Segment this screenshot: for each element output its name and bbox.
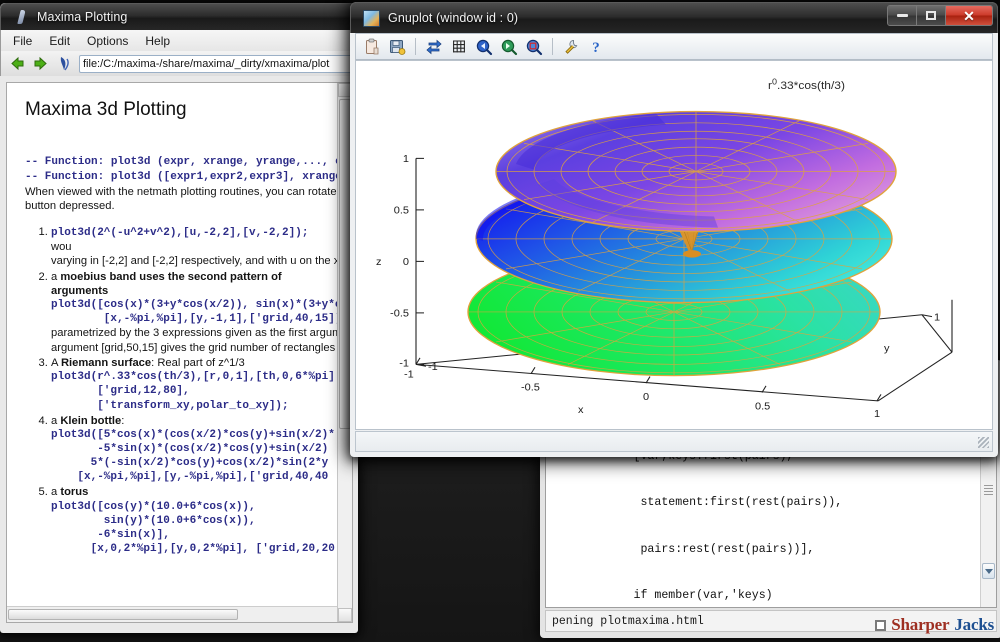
item3-suffix: : Real part of z^1/3 xyxy=(151,357,245,369)
z-axis-label: z xyxy=(376,256,382,268)
list-item: A Riemann surface: Real part of z^1/3 pl… xyxy=(51,356,329,413)
x-tick-0: 0 xyxy=(643,391,649,403)
plot-title-rest: .33*cos(th/3) xyxy=(777,79,845,92)
copy-to-clipboard-button[interactable] xyxy=(361,36,383,57)
scroll-down-button[interactable] xyxy=(982,563,995,579)
item2-prefix: a xyxy=(51,271,60,283)
toolbar-separator xyxy=(552,38,553,55)
z-tick--0.5: -0.5 xyxy=(390,308,409,320)
z-tick--1: -1 xyxy=(399,358,409,370)
item2-desc-1: parametrized by the 3 expressions given … xyxy=(51,326,329,340)
gnuplot-window-title: Gnuplot (window id : 0) xyxy=(388,11,518,25)
minimize-button[interactable] xyxy=(888,6,917,25)
item5-prefix: a xyxy=(51,486,60,498)
gnuplot-status-bar xyxy=(355,431,993,452)
item3-prefix: A xyxy=(51,357,61,369)
replot-button[interactable] xyxy=(423,36,445,57)
z-tick-0: 0 xyxy=(403,256,409,268)
gnuplot-toolbar[interactable]: ? xyxy=(355,33,993,60)
item4-code-4: [x,-%pi,%pi],[y,-%pi,%pi],['grid,40,40 xyxy=(51,470,329,484)
gnuplot-window[interactable]: Gnuplot (window id : 0) ✕ xyxy=(350,2,998,457)
navigation-bar[interactable]: file:/C:/maxima-/share/maxima/_dirty/xma… xyxy=(0,51,358,76)
x-tick-0.5: 0.5 xyxy=(755,401,770,413)
list-item: a moebius band uses the second pattern o… xyxy=(51,270,329,355)
upper-sheet xyxy=(496,112,896,232)
document-body: -- Function: plot3d (expr, xrange, yrang… xyxy=(25,155,329,556)
console-line: if member(var,'keys) xyxy=(550,588,996,604)
item2-desc-2: argument [grid,50,15] gives the grid num… xyxy=(51,341,329,355)
watermark-part1: Sharper xyxy=(891,615,949,635)
console-line: statement:first(rest(pairs)), xyxy=(550,495,996,511)
surface-plot: r0.33*cos(th/3) 1 0.5 0 -0.5 -1 z xyxy=(356,61,992,429)
list-item: a Klein bottle: plot3d([5*cos(x)*(cos(x/… xyxy=(51,414,329,485)
watermark-part2: Jacks xyxy=(954,615,994,635)
menu-edit[interactable]: Edit xyxy=(47,33,72,49)
z-tick-0.5: 0.5 xyxy=(394,205,409,217)
item2-bold: moebius band uses the second pattern of … xyxy=(51,271,282,297)
maxima-brand-icon xyxy=(57,56,71,71)
screen-root: else caseq( [var,keys:first(pairs), stat… xyxy=(0,0,1000,642)
menu-bar[interactable]: File Edit Options Help xyxy=(0,30,358,51)
item3-code-1: plot3d(r^.33*cos(th/3),[r,0,1],[th,0,6*%… xyxy=(51,370,329,384)
document-hscrollbar[interactable] xyxy=(7,606,337,622)
zoom-previous-button[interactable] xyxy=(473,36,495,57)
watermark: Sharper Jacks xyxy=(875,615,994,635)
scrollbar-grip-icon xyxy=(984,485,993,497)
item3-code-3: ['transform_xy,polar_to_xy]); xyxy=(51,399,329,413)
grid-button[interactable] xyxy=(448,36,470,57)
hscroll-thumb[interactable] xyxy=(8,609,238,620)
examples-list: plot3d(2^(-u^2+v^2),[u,-2,2],[v,-2,2]); … xyxy=(25,225,329,556)
back-arrow-icon[interactable] xyxy=(9,56,26,71)
document-page: Maxima 3d Plotting -- Function: plot3d (… xyxy=(7,83,337,622)
x-tick--0.5: -0.5 xyxy=(521,382,540,394)
menu-options[interactable]: Options xyxy=(85,33,130,49)
scroll-down-button[interactable] xyxy=(338,608,352,622)
settings-button[interactable] xyxy=(560,36,582,57)
item4-prefix: a xyxy=(51,415,60,427)
document-viewport[interactable]: Maxima 3d Plotting -- Function: plot3d (… xyxy=(6,82,353,623)
page-title: Maxima 3d Plotting xyxy=(25,99,329,121)
item3-bold: Riemann surface xyxy=(61,357,151,369)
window-controls[interactable]: ✕ xyxy=(887,5,993,26)
item5-code-1: plot3d([cos(y)*(10.0+6*cos(x)), xyxy=(51,500,329,514)
plot-title: r0.33*cos(th/3) xyxy=(768,77,845,92)
item5-code-4: [x,0,2*%pi],[y,0,2*%pi], ['grid,20,20 xyxy=(51,542,329,556)
list-item: plot3d(2^(-u^2+v^2),[u,-2,2],[v,-2,2]); … xyxy=(51,225,329,269)
save-button[interactable] xyxy=(386,36,408,57)
item5-code-3: -6*sin(x)], xyxy=(51,528,329,542)
zoom-next-button[interactable] xyxy=(498,36,520,57)
maximize-button[interactable] xyxy=(917,6,946,25)
close-icon: ✕ xyxy=(963,9,975,23)
svg-text:?: ? xyxy=(592,40,600,56)
chevron-down-icon xyxy=(985,569,993,574)
menu-help[interactable]: Help xyxy=(143,33,172,49)
item4-suffix: : xyxy=(121,415,124,427)
x-tick--1: -1 xyxy=(404,369,414,381)
minimize-icon xyxy=(897,14,908,17)
maxima-titlebar[interactable]: Maxima Plotting xyxy=(0,3,358,30)
console-line: pairs:rest(rest(pairs))], xyxy=(550,542,996,558)
maxima-plotting-window[interactable]: Maxima Plotting File Edit Options Help xyxy=(0,3,358,633)
item3-code-2: ['grid,12,80], xyxy=(51,384,329,398)
x-axis-label: x xyxy=(578,404,584,416)
close-button[interactable]: ✕ xyxy=(946,6,992,25)
item5-code-2: sin(y)*(10.0+6*cos(x)), xyxy=(51,514,329,528)
y-tick--1: -1 xyxy=(428,361,438,373)
maxima-window-title: Maxima Plotting xyxy=(37,10,127,24)
intro-line-1: When viewed with the netmath plotting ro… xyxy=(25,185,329,199)
maximize-icon xyxy=(926,11,936,20)
resize-grip-icon[interactable] xyxy=(978,437,989,448)
gnuplot-titlebar[interactable]: Gnuplot (window id : 0) ✕ xyxy=(350,2,998,33)
item1-trailing: wou xyxy=(51,241,72,253)
url-input[interactable]: file:/C:/maxima-/share/maxima/_dirty/xma… xyxy=(79,55,353,73)
gnuplot-icon xyxy=(363,10,380,27)
autoscale-button[interactable] xyxy=(523,36,545,57)
help-button[interactable]: ? xyxy=(585,36,607,57)
item2-code-1: plot3d([cos(x)*(3+y*cos(x/2)), sin(x)*(3… xyxy=(51,298,329,312)
intro-line-2: button depressed. xyxy=(25,199,329,213)
forward-arrow-icon[interactable] xyxy=(32,56,49,71)
z-tick-1: 1 xyxy=(403,153,409,165)
item4-bold: Klein bottle xyxy=(60,415,121,427)
menu-file[interactable]: File xyxy=(11,33,34,49)
item4-code-1: plot3d([5*cos(x)*(cos(x/2)*cos(y)+sin(x/… xyxy=(51,428,329,442)
y-tick-1: 1 xyxy=(934,312,940,324)
list-item: a torus plot3d([cos(y)*(10.0+6*cos(x)), … xyxy=(51,485,329,556)
item4-code-2: -5*sin(x)*(cos(x/2)*cos(y)+sin(x/2) xyxy=(51,442,329,456)
function-signature-2: -- Function: plot3d ([expr1,expr2,expr3]… xyxy=(25,170,329,184)
item1-code: plot3d(2^(-u^2+v^2),[u,-2,2],[v,-2,2]); xyxy=(51,227,308,239)
function-signature-1: -- Function: plot3d (expr, xrange, yrang… xyxy=(25,155,329,169)
square-icon xyxy=(875,620,886,631)
item1-desc: varying in [-2,2] and [-2,2] respectivel… xyxy=(51,254,329,268)
item5-bold: torus xyxy=(60,486,88,498)
y-axis-label: y xyxy=(884,343,890,355)
feather-icon xyxy=(15,10,29,25)
item4-code-3: 5*(-sin(x/2)*cos(y)+cos(x/2)*sin(2*y xyxy=(51,456,329,470)
item2-code-2: [x,-%pi,%pi],[y,-1,1],['grid,40,15]) xyxy=(51,312,329,326)
plot-canvas[interactable]: r0.33*cos(th/3) 1 0.5 0 -0.5 -1 z xyxy=(355,60,993,430)
toolbar-separator xyxy=(415,38,416,55)
x-tick-1: 1 xyxy=(874,408,880,420)
status-text: pening plotmaxima.html xyxy=(552,615,704,628)
